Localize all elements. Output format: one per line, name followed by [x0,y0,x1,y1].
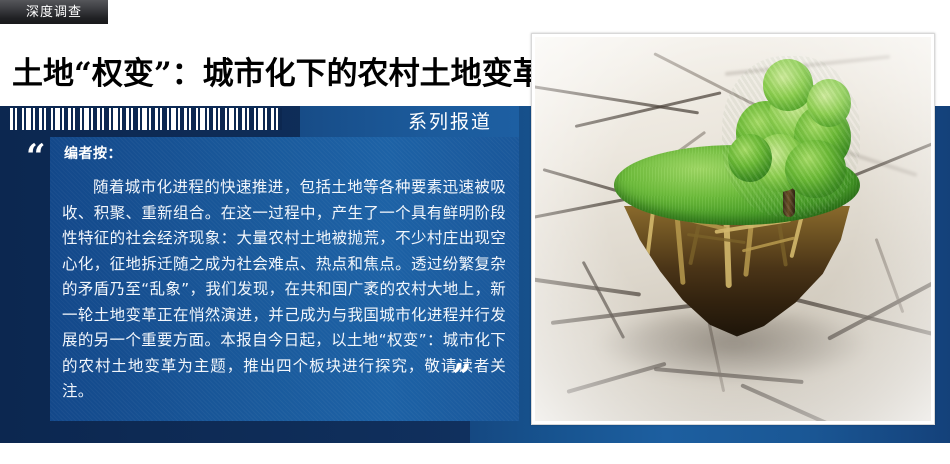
close-quote-icon: ” [452,362,470,392]
page-title: 土地“权变”：城市化下的农村土地变革 [12,52,512,102]
barcode-decoration [10,108,282,130]
feature-photo-frame[interactable] [531,33,935,425]
island-soil [624,206,850,337]
tree-foliage-texture [722,56,859,217]
editor-note-body: 随着城市化进程的快速推进，包括土地等各种要素迅速被吸收、积聚、重新组合。在这一过… [62,175,506,405]
series-label: 系列报道 [408,110,492,134]
open-quote-icon: “ [26,142,44,172]
page-root: 深度调查 土地“权变”：城市化下的农村土地变革 系列报道 “ 编者按： 随着城市… [0,0,950,464]
editor-note-heading: 编者按： [64,145,122,163]
feature-photo [535,37,931,421]
section-tab[interactable]: 深度调查 [0,0,108,24]
bottom-margin [0,443,950,464]
tree [722,56,859,217]
floating-island [614,145,860,337]
section-tab-label: 深度调查 [26,6,82,19]
